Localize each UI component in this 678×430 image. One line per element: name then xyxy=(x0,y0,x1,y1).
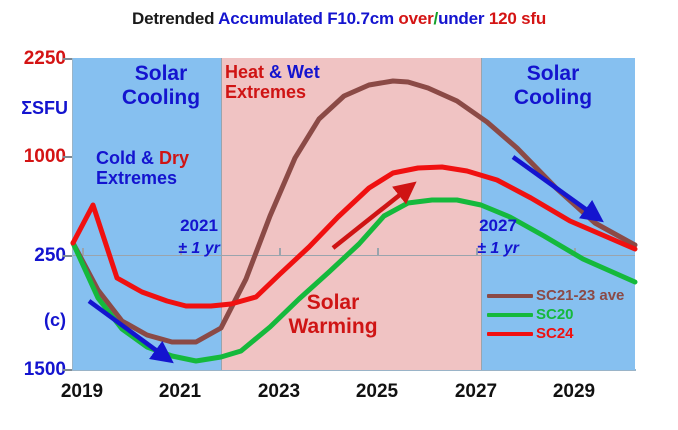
x-tick-label-2027: 2027 xyxy=(441,381,511,403)
y-tick-label-250: 250 xyxy=(0,245,66,267)
x-tick-label-2029: 2029 xyxy=(539,381,609,403)
panel-label: (c) xyxy=(0,310,66,331)
arrow-cooling-left-down xyxy=(89,301,168,359)
x-tick-label-2023: 2023 xyxy=(244,381,314,403)
y-tick-label-1500: 1500 xyxy=(0,359,66,381)
x-tick-label-2019: 2019 xyxy=(47,381,117,403)
legend-item-sc20[interactable]: SC20 xyxy=(487,305,624,324)
y-tick-250 xyxy=(63,255,72,257)
legend-label-sc21-23-ave: SC21-23 ave xyxy=(536,287,624,304)
title-part-detrended: Detrended xyxy=(132,9,218,28)
x-tick-label-2021: 2021 xyxy=(145,381,215,403)
legend-item-sc24[interactable]: SC24 xyxy=(487,324,624,343)
legend-label-sc20: SC20 xyxy=(536,306,574,323)
arrow-cooling-right-down xyxy=(513,157,598,218)
title-part-under: under xyxy=(438,9,489,28)
chart-title: Detrended Accumulated F10.7cm over/under… xyxy=(0,9,678,29)
plot-area: Solar Cooling Heat & Wet Extremes Solar … xyxy=(73,58,635,370)
legend: SC21-23 ave SC20 SC24 xyxy=(487,286,624,343)
title-part-120sfu: 120 sfu xyxy=(489,9,546,28)
title-part-accumulated: Accumulated F10.7cm xyxy=(218,9,398,28)
legend-item-sc21-23-ave[interactable]: SC21-23 ave xyxy=(487,286,624,305)
y-tick-2250 xyxy=(63,58,72,60)
legend-label-sc24: SC24 xyxy=(536,325,574,342)
y-tick-1000 xyxy=(63,156,72,158)
legend-swatch-sc20 xyxy=(487,313,533,317)
y-tick-label-2250: 2250 xyxy=(0,48,66,70)
x-tick-label-2025: 2025 xyxy=(342,381,412,403)
arrow-warming-up xyxy=(333,186,411,248)
y-tick-label-1000: 1000 xyxy=(0,146,66,168)
legend-swatch-sc24 xyxy=(487,332,533,336)
y-tick-1500 xyxy=(63,369,72,371)
y-axis-label: ΣSFU xyxy=(0,98,68,119)
title-part-over: over xyxy=(398,9,433,28)
legend-swatch-sc21-23-ave xyxy=(487,294,533,298)
chart-root: Detrended Accumulated F10.7cm over/under… xyxy=(0,0,678,430)
